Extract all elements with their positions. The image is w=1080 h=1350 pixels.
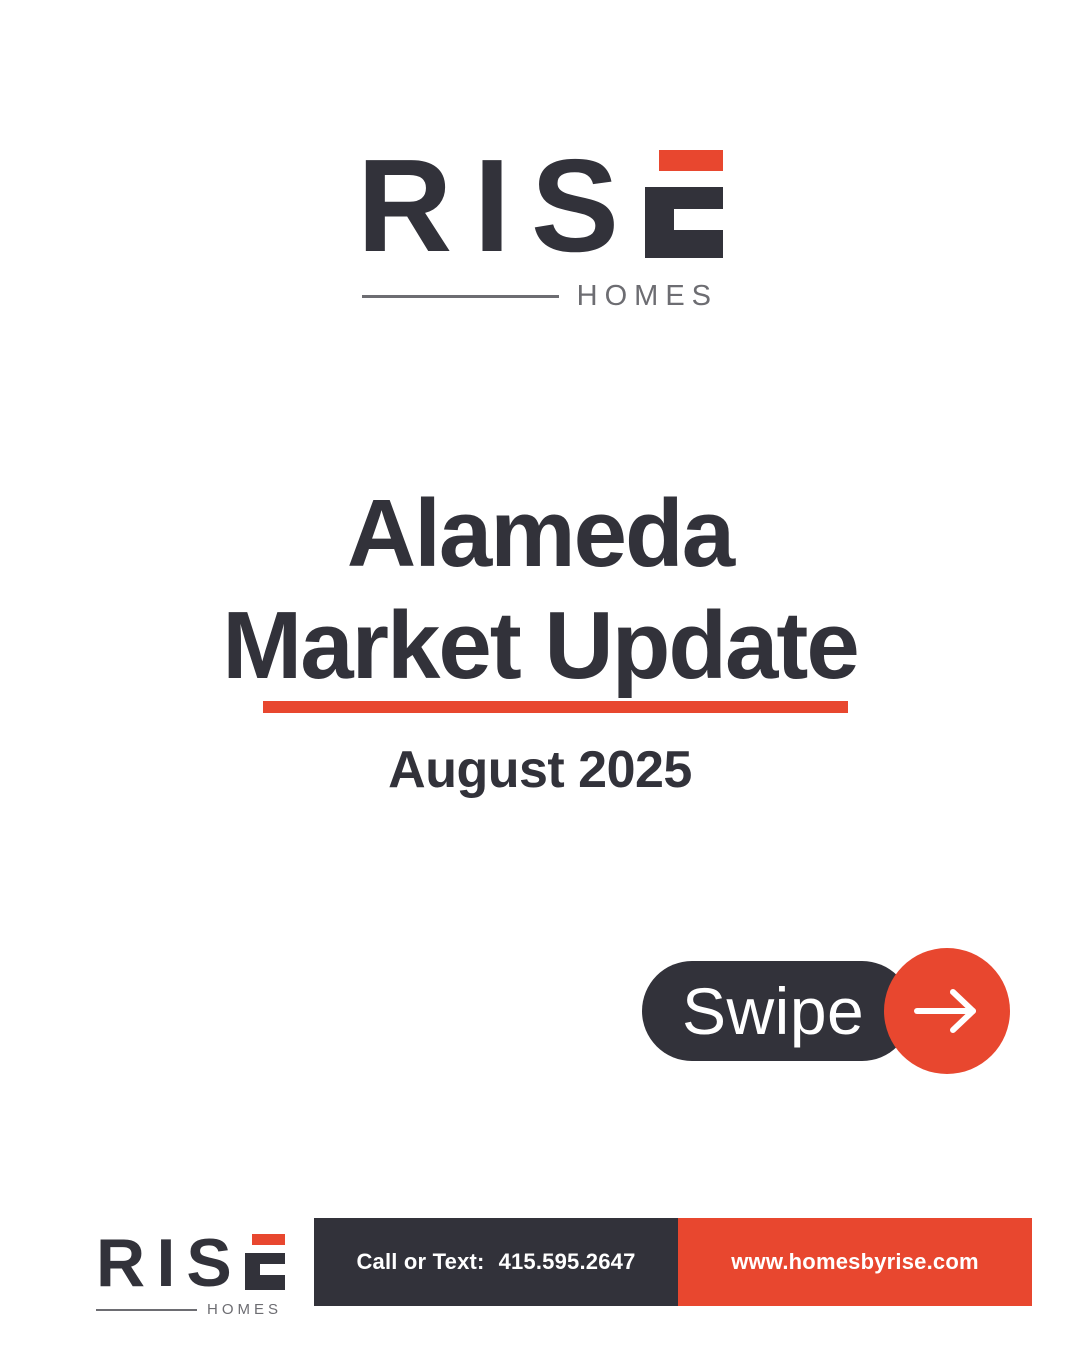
footer-logo-wordmark: R I S: [96, 1234, 296, 1290]
footer-website-url: www.homesbyrise.com: [731, 1249, 979, 1275]
footer-contact-label: Call or Text:: [356, 1249, 484, 1275]
logo-red-bar: [659, 150, 723, 171]
logo-tagline: HOMES: [559, 280, 718, 313]
footer-phone-segment[interactable]: Call or Text: 415.595.2647: [314, 1218, 678, 1306]
date-subtitle: August 2025: [0, 740, 1080, 800]
logo-letter-e-accent: [645, 150, 723, 258]
title-underline-accent: [263, 701, 848, 713]
footer-logo-divider-rule: [96, 1309, 197, 1311]
footer-logo-tagline: HOMES: [197, 1301, 282, 1318]
logo-wordmark: R I S: [357, 150, 723, 258]
footer-brand-logo: R I S HOMES: [96, 1234, 296, 1318]
logo-letter-r: R: [357, 154, 461, 258]
footer-contact-bar: Call or Text: 415.595.2647 www.homesbyri…: [314, 1218, 1032, 1306]
logo-tagline-row: HOMES: [362, 280, 718, 313]
logo-e-notch: [674, 209, 723, 230]
footer-logo-e-notch: [260, 1264, 285, 1275]
footer-logo-letter-i: I: [150, 1236, 182, 1290]
brand-logo: R I S HOMES: [0, 150, 1080, 313]
page-title: Alameda Market Update: [0, 478, 1080, 702]
market-update-slide: R I S HOMES Alameda Market Update August…: [0, 0, 1080, 1350]
logo-letter-i: I: [461, 154, 523, 258]
logo-letter-s: S: [523, 154, 627, 258]
footer-logo-letter-r: R: [96, 1236, 150, 1290]
footer-logo-letter-s: S: [182, 1236, 236, 1290]
page-title-line-1: Alameda: [0, 478, 1080, 590]
arrow-right-icon: [911, 986, 983, 1036]
swipe-button[interactable]: Swipe: [642, 958, 1010, 1064]
footer-logo-letter-e-accent: [245, 1234, 285, 1290]
footer-phone-number: 415.595.2647: [499, 1249, 636, 1275]
footer-logo-tagline-row: HOMES: [96, 1301, 282, 1318]
logo-divider-rule: [362, 295, 559, 298]
footer-website-segment[interactable]: www.homesbyrise.com: [678, 1218, 1032, 1306]
page-title-line-2: Market Update: [0, 590, 1080, 702]
footer-logo-red-bar: [252, 1234, 285, 1245]
swipe-label: Swipe: [682, 961, 902, 1061]
swipe-arrow-circle[interactable]: [884, 948, 1010, 1074]
